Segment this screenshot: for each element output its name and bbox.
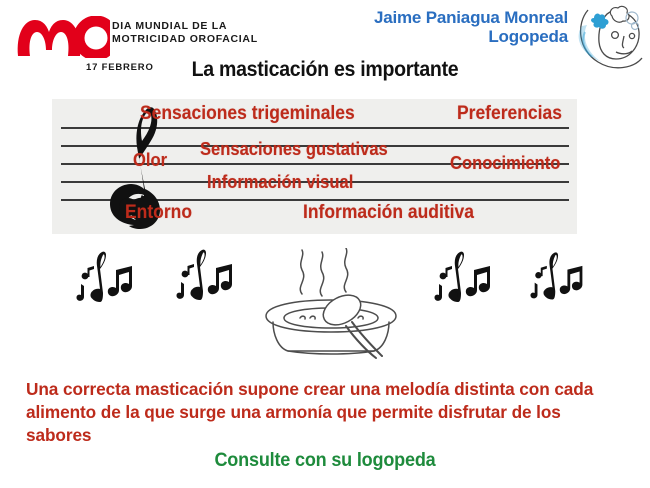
music-notes-icon bbox=[176, 248, 238, 306]
call-to-action-text: Consulte con su logopeda bbox=[16, 450, 634, 472]
org-name: DIA MUNDIAL DE LA MOTRICIDAD OROFACIAL bbox=[112, 20, 282, 46]
page-title: La masticación es importante bbox=[23, 58, 628, 82]
staff-label: Sensaciones trigeminales bbox=[140, 103, 355, 125]
org-line-1: DIA MUNDIAL DE LA bbox=[112, 20, 282, 33]
author-role: Logopeda bbox=[316, 27, 568, 46]
staff-label: Información visual bbox=[207, 172, 353, 193]
staff-label: Sensaciones gustativas bbox=[200, 139, 388, 160]
mo-heart-logo-icon bbox=[14, 16, 110, 58]
staff-label: Información auditiva bbox=[303, 202, 474, 224]
author-block: Jaime Paniagua Monreal Logopeda bbox=[316, 8, 568, 46]
steaming-bowl-with-spoon-icon bbox=[258, 248, 404, 360]
staff-label: Preferencias bbox=[457, 103, 562, 125]
staff-label: Entorno bbox=[125, 202, 192, 224]
music-notes-icon bbox=[434, 250, 496, 308]
poster-canvas: DIA MUNDIAL DE LA MOTRICIDAD OROFACIAL 1… bbox=[0, 0, 650, 488]
author-name: Jaime Paniagua Monreal bbox=[316, 8, 568, 27]
music-notes-icon bbox=[76, 250, 138, 308]
staff-label: Conocimiento bbox=[450, 153, 560, 174]
body-paragraph: Una correcta masticación supone crear un… bbox=[26, 378, 621, 447]
staff-label: Olor bbox=[133, 150, 167, 171]
music-notes-icon bbox=[530, 250, 588, 306]
org-line-2: MOTRICIDAD OROFACIAL bbox=[112, 33, 282, 46]
